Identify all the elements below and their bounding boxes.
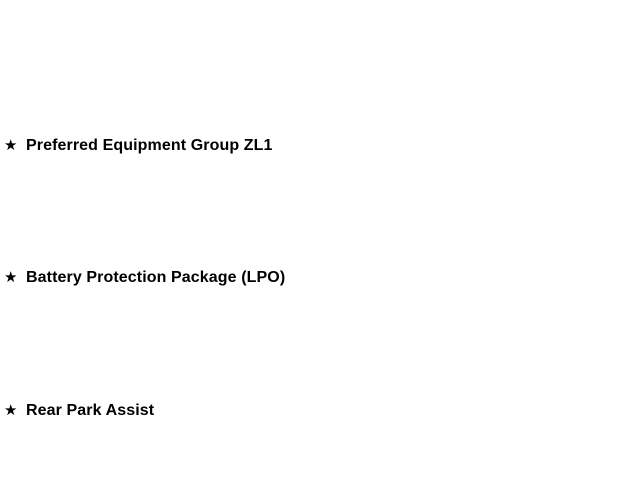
slide-header-banner: Vehicle Highlights [0, 0, 640, 80]
highlight-label: Battery Protection Package (LPO) [26, 268, 285, 288]
slide-content-area: ★ Preferred Equipment Group ZL1 ★ Batter… [0, 80, 640, 480]
highlight-label: Rear Park Assist [26, 401, 154, 421]
star-bullet-icon: ★ [4, 136, 26, 156]
list-item: ★ Battery Protection Package (LPO) [4, 268, 285, 288]
star-bullet-icon: ★ [4, 268, 26, 288]
star-bullet-icon: ★ [4, 401, 26, 421]
list-item: ★ Preferred Equipment Group ZL1 [4, 136, 273, 156]
list-item: ★ Rear Park Assist [4, 401, 154, 421]
highlight-label: Preferred Equipment Group ZL1 [26, 136, 273, 156]
page-title: Vehicle Highlights [451, 30, 612, 50]
vehicle-highlights-slide: Vehicle Highlights ★ Preferred Equipment… [0, 0, 640, 480]
